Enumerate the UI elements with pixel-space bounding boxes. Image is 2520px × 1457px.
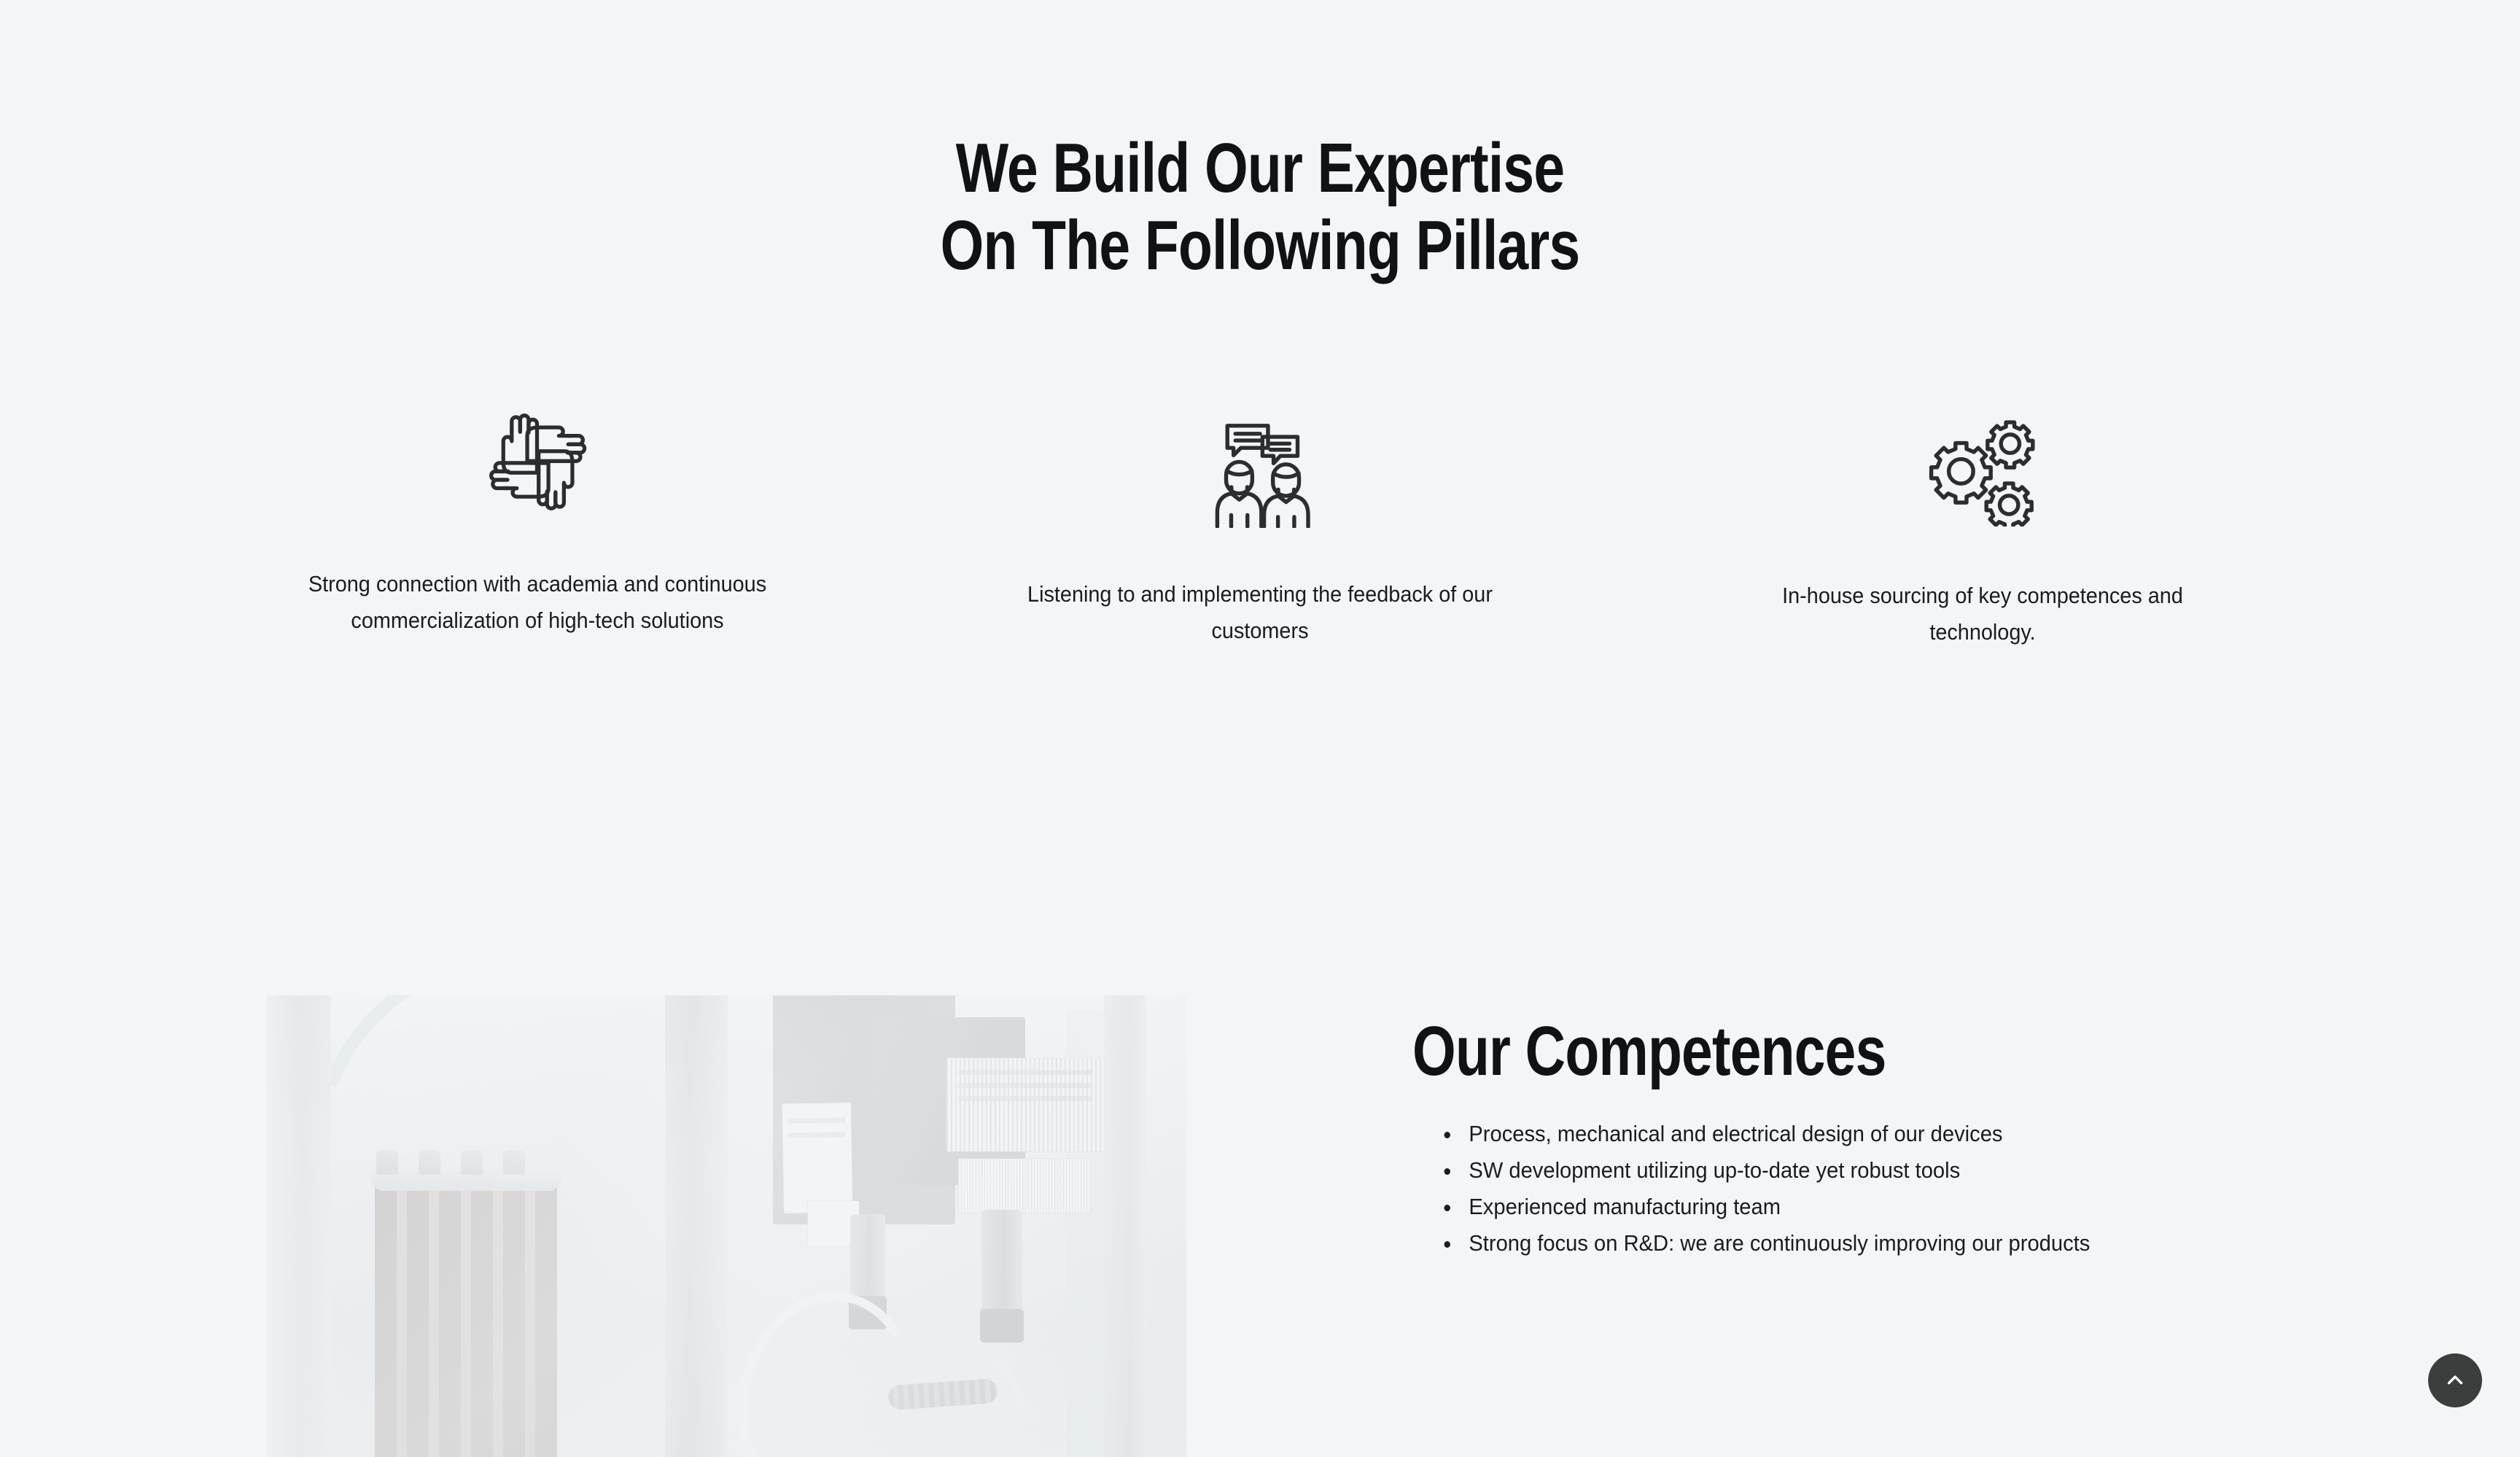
list-item: Strong focus on R&D: we are continuously… [1439, 1225, 2305, 1262]
list-item: Process, mechanical and electrical desig… [1439, 1116, 2305, 1152]
competences-photo [267, 995, 1186, 1457]
competences-text-block: Our Competences Process, mechanical and … [1412, 1014, 2360, 1262]
page-root: We Build Our Expertise On The Following … [0, 0, 2520, 1457]
page-title-line-2: On The Following Pillars [252, 207, 2268, 284]
pillar-label-customer-feedback: Listening to and implementing the feedba… [1023, 576, 1498, 649]
page-title-line-1: We Build Our Expertise [252, 130, 2268, 207]
page-title: We Build Our Expertise On The Following … [252, 130, 2268, 284]
pillar-item-customer-feedback: Listening to and implementing the feedba… [899, 394, 1622, 650]
chevron-up-icon [2443, 1368, 2467, 1393]
competences-photo-image [267, 995, 1186, 1457]
scroll-to-top-button[interactable] [2428, 1353, 2482, 1407]
pillar-label-in-house-sourcing: In-house sourcing of key competences and… [1745, 578, 2220, 650]
pillar-label-academia: Strong connection with academia and cont… [300, 566, 775, 639]
two-people-speech-bubbles-icon [1195, 394, 1325, 562]
pillar-item-academia: Strong connection with academia and cont… [176, 394, 899, 650]
pillars-grid: Strong connection with academia and cont… [176, 394, 2344, 650]
three-gears-icon [1925, 394, 2040, 562]
pillar-item-in-house-sourcing: In-house sourcing of key competences and… [1621, 394, 2344, 650]
list-item: SW development utilizing up-to-date yet … [1439, 1152, 2305, 1189]
four-hands-teamwork-icon [475, 394, 599, 562]
competences-title: Our Competences [1412, 1014, 2171, 1089]
pillars-section: We Build Our Expertise On The Following … [0, 0, 2520, 284]
competences-list: Process, mechanical and electrical desig… [1439, 1116, 2360, 1262]
list-item: Experienced manufacturing team [1439, 1189, 2305, 1225]
competences-section: Our Competences Process, mechanical and … [0, 995, 2520, 1457]
